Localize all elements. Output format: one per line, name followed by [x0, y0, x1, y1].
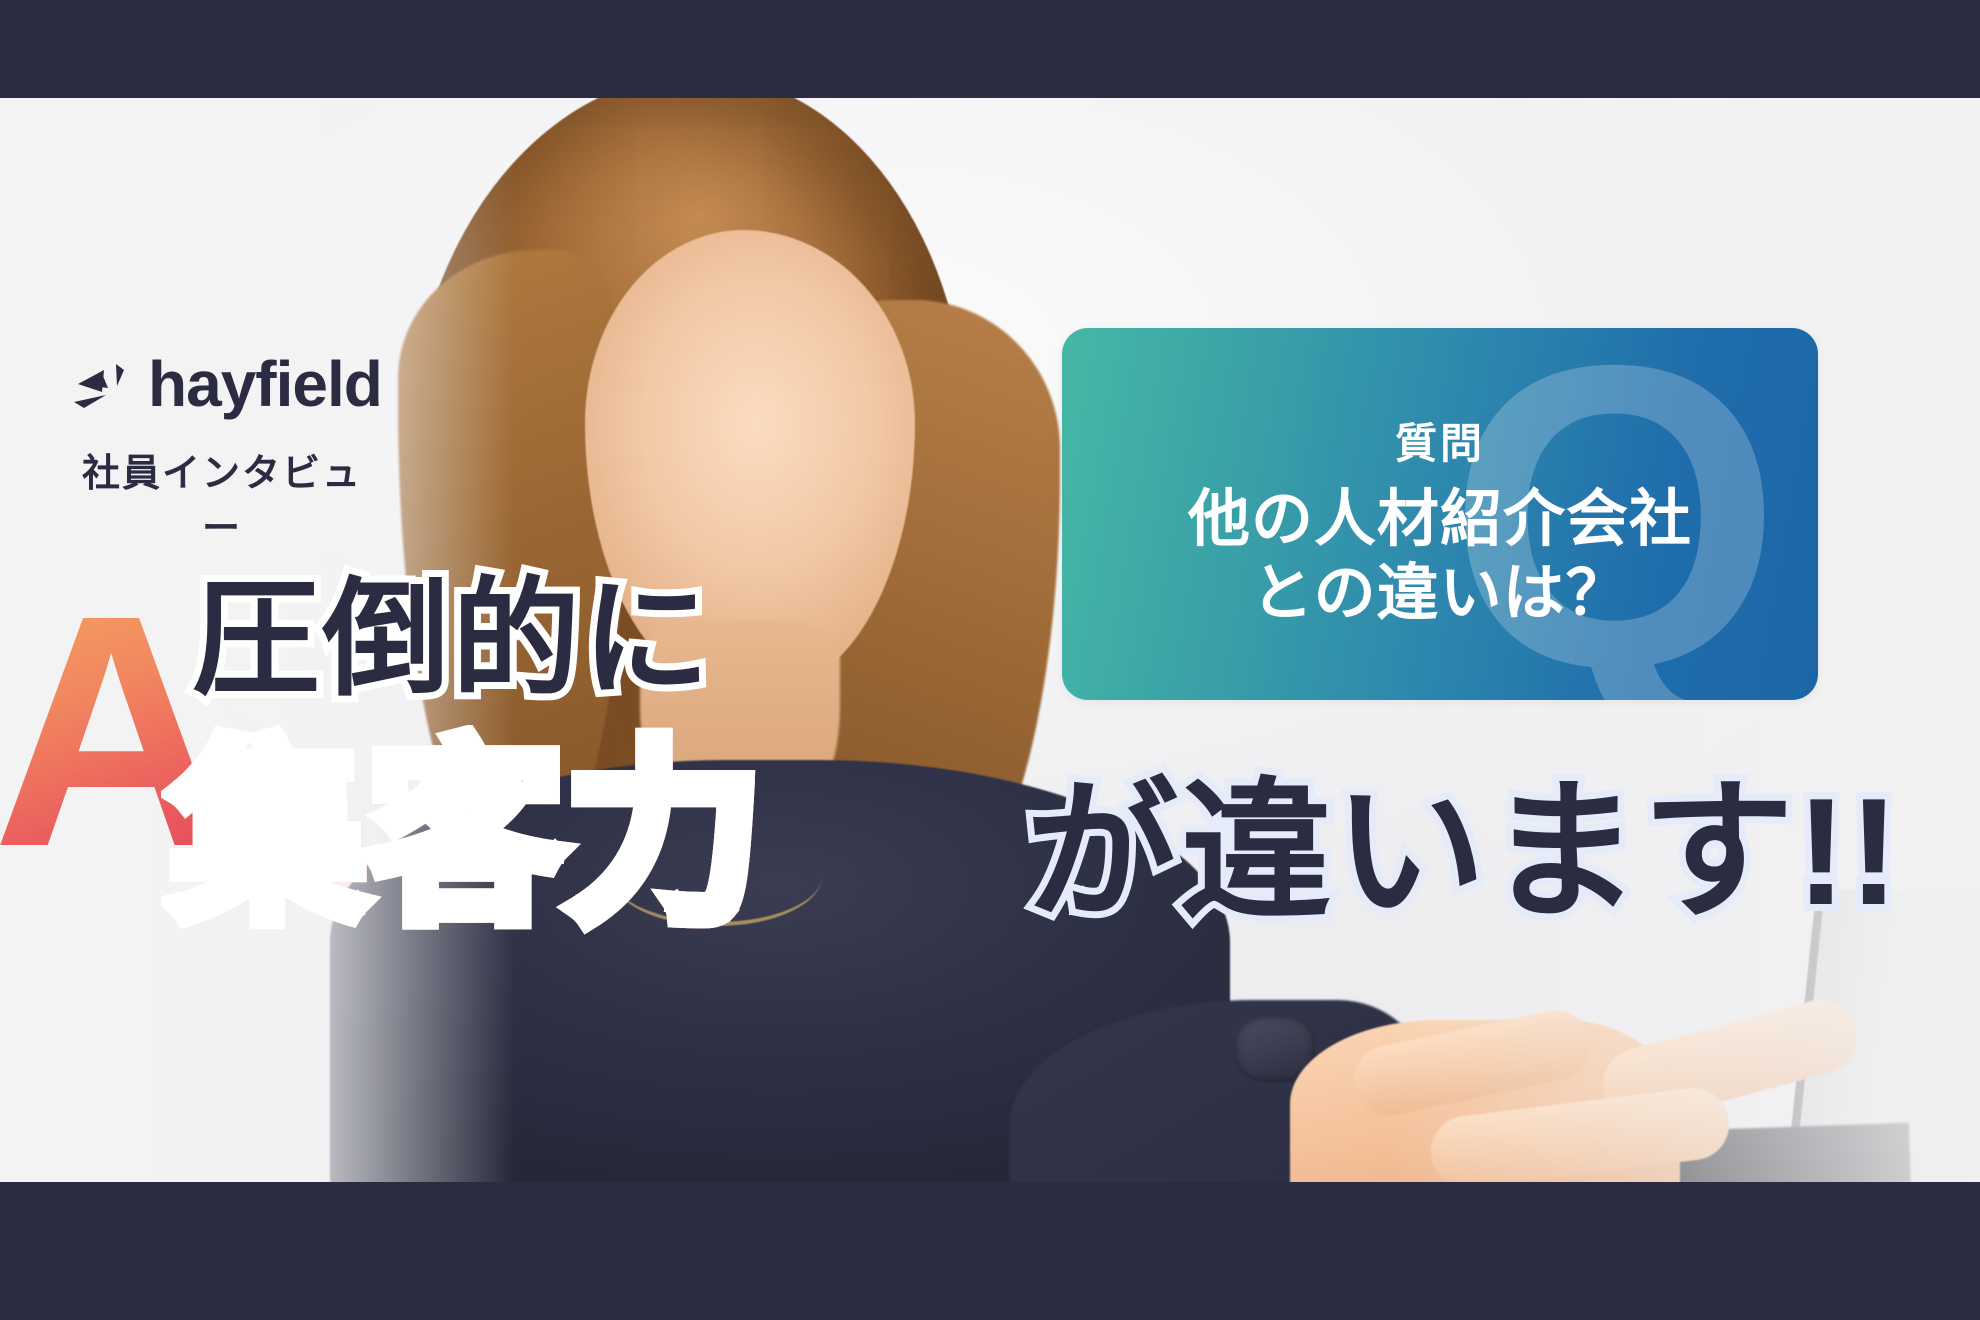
bottom-letterbox-band: [0, 1182, 1980, 1320]
hayfield-wordmark: hayfield: [148, 352, 382, 416]
hayfield-bird-mark-icon: [72, 358, 134, 410]
brand-logo-block: hayfield 社員インタビュー: [72, 352, 382, 552]
question-line-2: との違いは？: [1251, 557, 1628, 630]
series-subtitle: 社員インタビュー: [72, 442, 372, 552]
thumbnail-canvas: hayfield 社員インタビュー Q 質問 他の人材紹介会社 との違いは？ A…: [0, 0, 1980, 1320]
question-line-1: 他の人材紹介会社: [1188, 483, 1692, 556]
question-card: Q 質問 他の人材紹介会社 との違いは？: [1062, 328, 1818, 700]
question-card-body: 質問 他の人材紹介会社 との違いは？: [1062, 328, 1818, 700]
subject-necklace: [612, 826, 822, 926]
top-letterbox-band: [0, 0, 1980, 98]
question-kicker: 質問: [1395, 410, 1485, 471]
logo-row: hayfield: [72, 352, 382, 416]
